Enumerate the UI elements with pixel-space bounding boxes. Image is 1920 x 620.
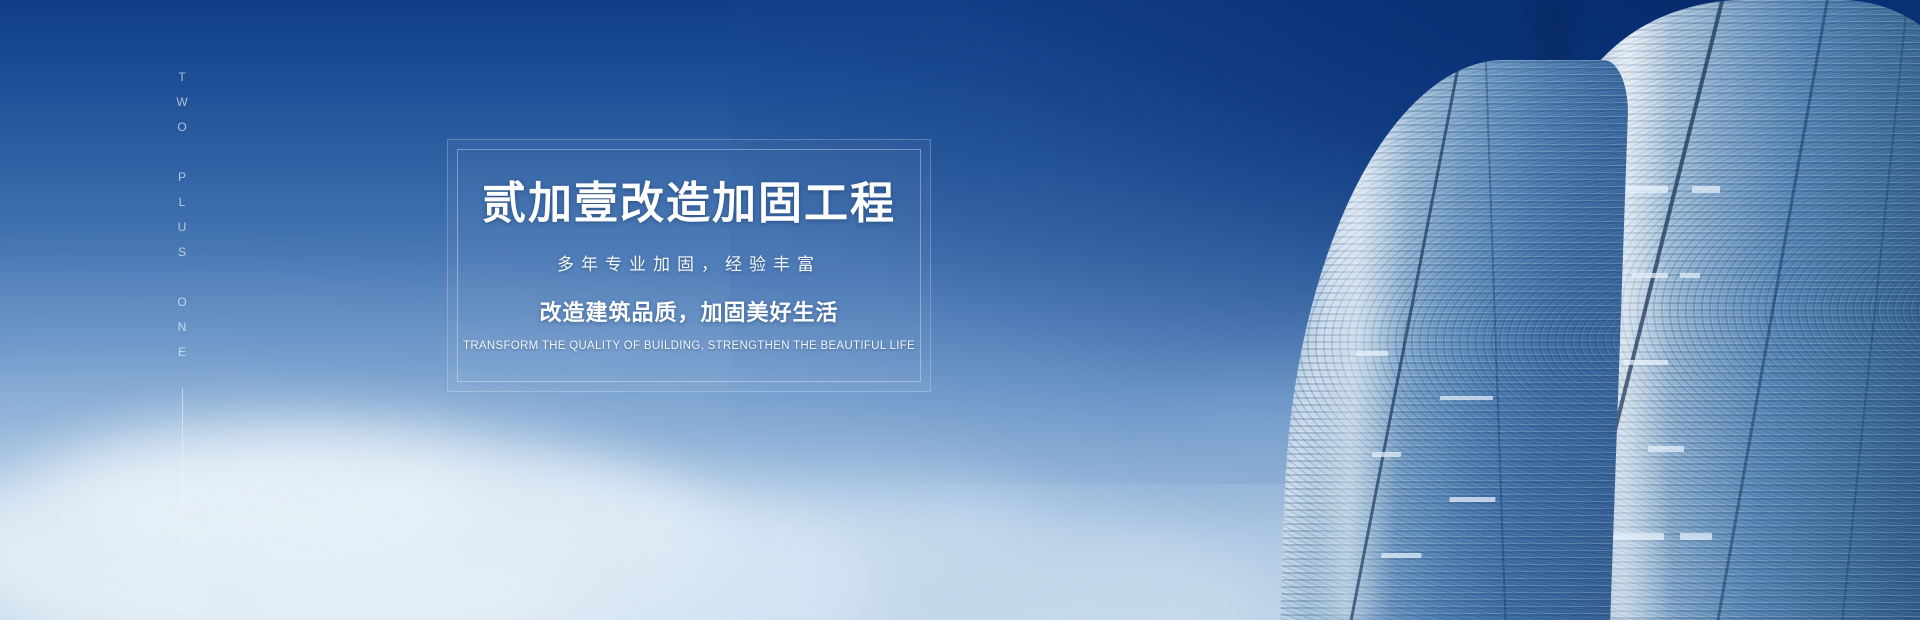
skyscraper-photo	[1080, 0, 1920, 620]
hero-subtitle: 多年专业加固，经验丰富	[557, 250, 821, 275]
window-strip	[1608, 533, 1664, 540]
vertical-brand-mark: 1	[177, 608, 187, 615]
hero-text-panel-inner: 贰加壹改造加固工程 多年专业加固，经验丰富 改造建筑品质，加固美好生活 TRAN…	[457, 149, 921, 382]
window-strip	[1381, 553, 1421, 558]
window-strip	[1680, 273, 1700, 278]
window-strip	[1632, 273, 1668, 278]
page-title: 贰加壹改造加固工程	[482, 180, 896, 228]
window-strip	[1372, 452, 1402, 457]
window-strip	[1355, 351, 1388, 356]
cloud-shape	[620, 470, 1040, 580]
cloud-shape	[60, 430, 480, 550]
hero-banner: TWO PLUS ONE 1 贰加壹改造加固工程 多年专业加固，经验丰富 改造建…	[0, 0, 1920, 620]
vertical-brand: TWO PLUS ONE 1	[176, 70, 188, 615]
vertical-brand-text: TWO PLUS ONE	[176, 70, 188, 370]
vertical-rule	[182, 388, 183, 598]
hero-tagline-english: TRANSFORM THE QUALITY OF BUILDING, STREN…	[463, 340, 915, 352]
window-strip	[1680, 533, 1712, 540]
tower-front	[1280, 60, 1630, 620]
hero-text-panel: 贰加壹改造加固工程 多年专业加固，经验丰富 改造建筑品质，加固美好生活 TRAN…	[447, 139, 931, 392]
window-strip	[1624, 360, 1668, 365]
window-strip	[1449, 497, 1495, 502]
window-strip	[1692, 186, 1720, 193]
window-strip	[1440, 396, 1493, 400]
hero-tagline: 改造建筑品质，加固美好生活	[539, 295, 838, 327]
window-strip	[1648, 446, 1684, 452]
